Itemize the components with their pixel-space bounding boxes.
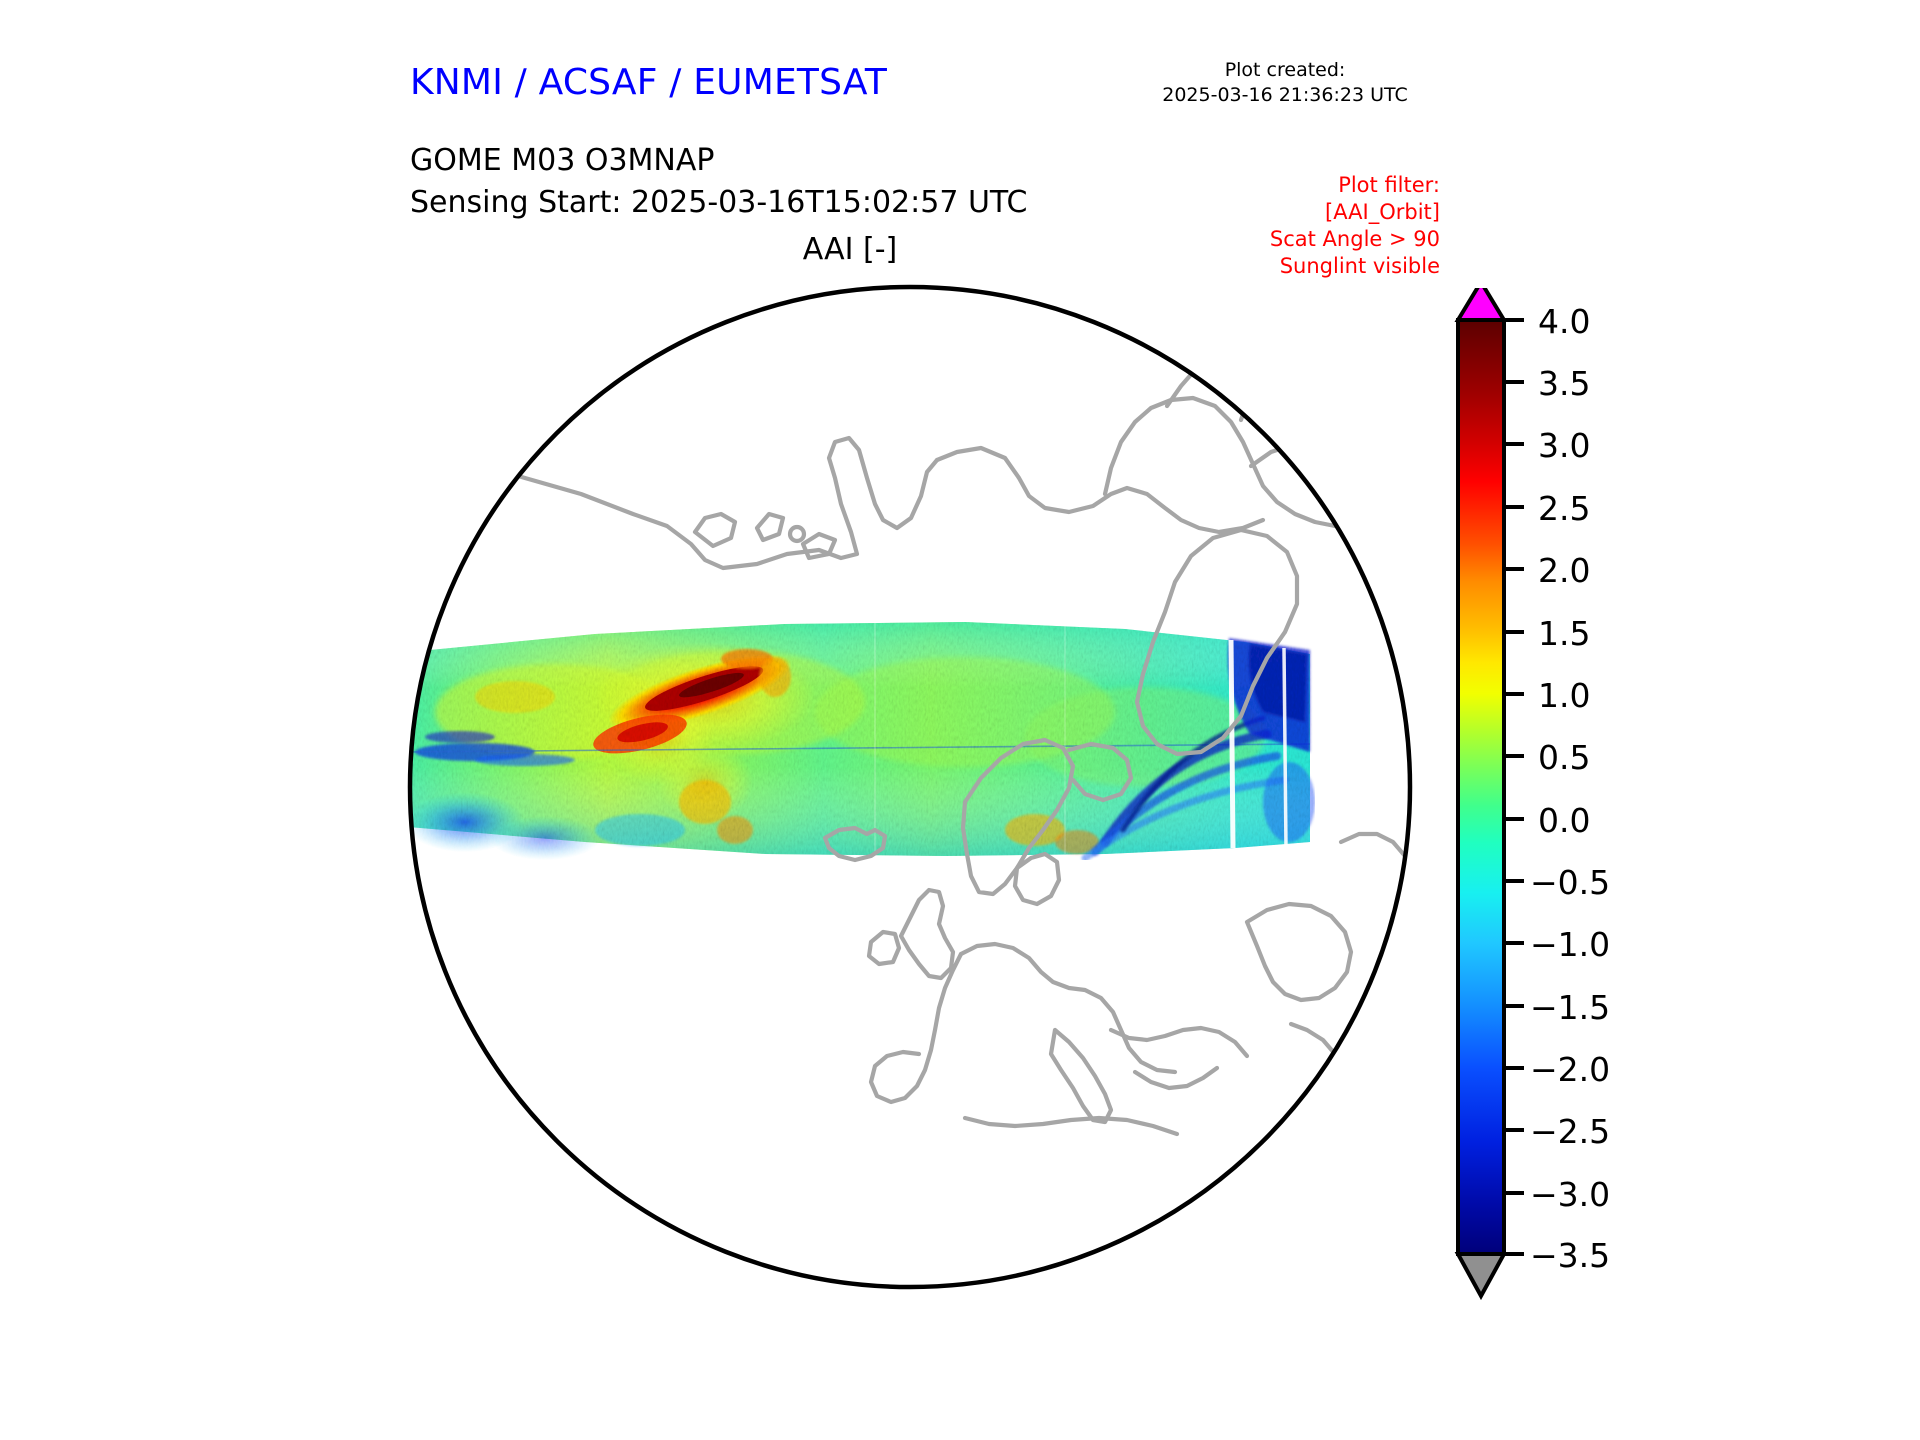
colorbar-tick-labels: 4.0 3.5 3.0 2.5 2.0 1.5 1.0 0.5 0.0 −0.5… [1530,302,1610,1275]
plot-created-time: 2025-03-16 21:36:23 UTC [1140,83,1430,108]
plot-created-label: Plot created: [1140,58,1430,83]
colorbar-tick-label: 0.0 [1538,801,1590,840]
sensing-start: Sensing Start: 2025-03-16T15:02:57 UTC [410,182,1027,224]
plot-filter-line-2: [AAI_Orbit] [1180,199,1440,226]
colorbar-gradient [1458,320,1504,1254]
colorbar-tick-label: −2.0 [1530,1050,1610,1089]
plot-created-block: Plot created: 2025-03-16 21:36:23 UTC [1140,58,1430,108]
colorbar-tick-label: −2.5 [1530,1112,1610,1151]
colorbar-tick-label: 0.5 [1538,738,1590,777]
colorbar-tick-label: 2.5 [1538,489,1590,528]
plot-filter-line-4: Sunglint visible [1180,253,1440,280]
colorbar-tick-label: −3.5 [1530,1236,1610,1275]
colorbar-tick-label: 4.0 [1538,302,1590,341]
colorbar-tick-label: 1.5 [1538,614,1590,653]
product-name: GOME M03 O3MNAP [410,140,1027,182]
colorbar-tick-label: 2.0 [1538,551,1590,590]
colorbar-tick-label: −0.5 [1530,863,1610,902]
colorbar-under-arrow [1458,1254,1504,1296]
plot-filter-line-1: Plot filter: [1180,172,1440,199]
colorbar-ticks [1504,320,1524,1254]
product-info-block: GOME M03 O3MNAP Sensing Start: 2025-03-1… [410,140,1027,224]
colorbar-tick-label: 1.0 [1538,676,1590,715]
colorbar-tick-label: −3.0 [1530,1175,1610,1214]
data-swath [405,622,1315,860]
colorbar[interactable]: 4.0 3.5 3.0 2.5 2.0 1.5 1.0 0.5 0.0 −0.5… [1448,288,1668,1318]
plot-filter-line-3: Scat Angle > 90 [1180,226,1440,253]
organisation-title: KNMI / ACSAF / EUMETSAT [410,62,887,103]
colorbar-tick-label: −1.5 [1530,988,1610,1027]
colorbar-tick-label: 3.5 [1538,364,1590,403]
polar-map[interactable] [405,282,1415,1292]
colorbar-tick-label: 3.0 [1538,426,1590,465]
plot-filter-block: Plot filter: [AAI_Orbit] Scat Angle > 90… [1180,172,1440,280]
colorbar-tick-label: −1.0 [1530,925,1610,964]
variable-title: AAI [-] [700,232,1000,267]
colorbar-over-arrow [1458,288,1504,320]
